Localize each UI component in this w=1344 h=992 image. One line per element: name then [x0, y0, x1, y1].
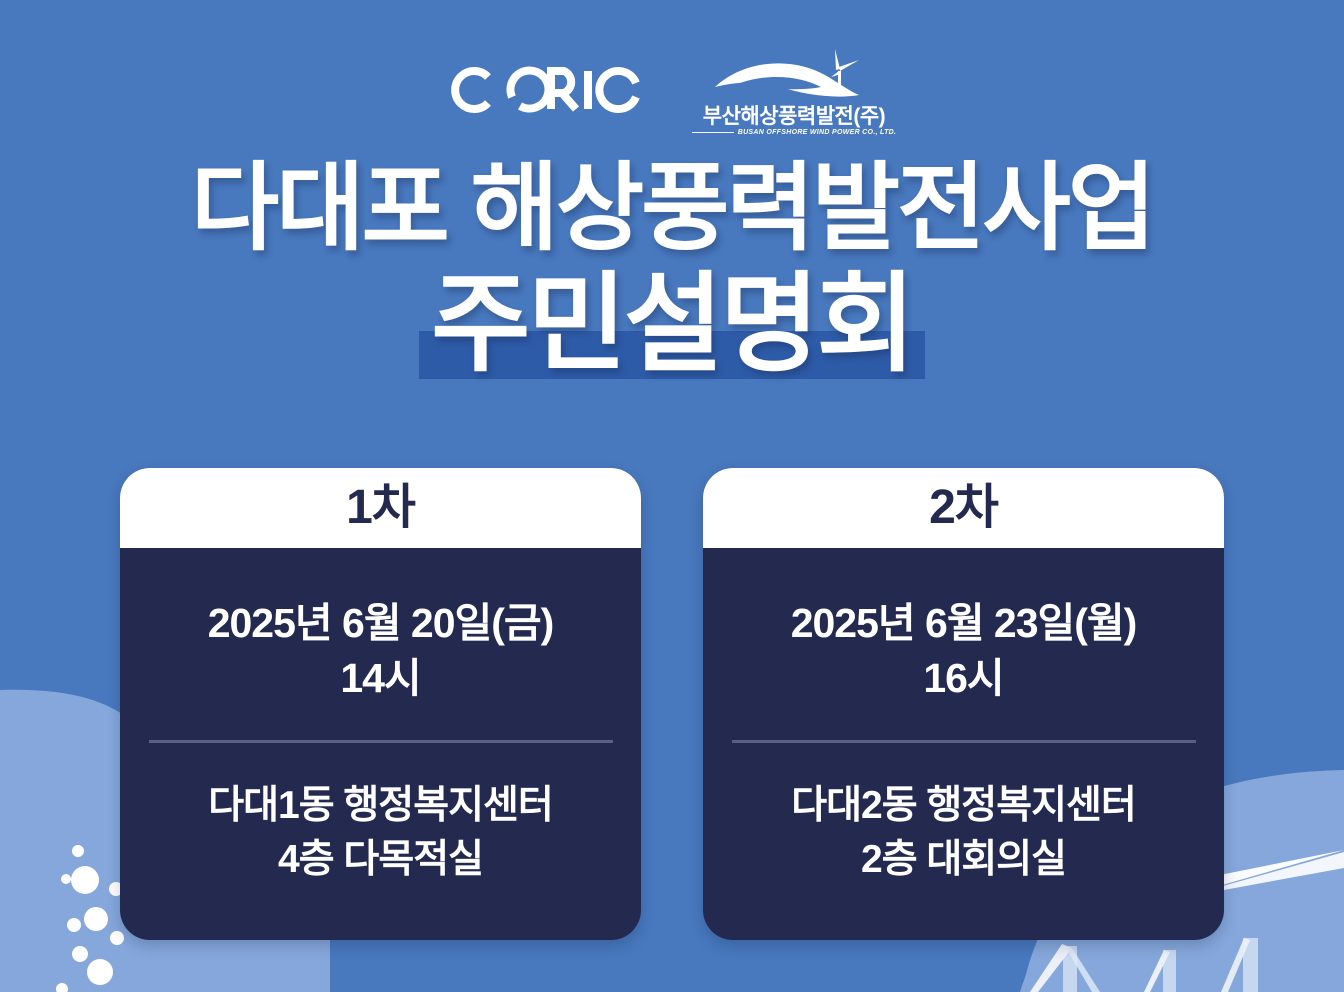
session-2-header: 2차	[703, 468, 1224, 548]
session-card-1: 1차 2025년 6월 20일(금) 14시 다대1동 행정복지센터 4층 다목…	[120, 468, 641, 940]
busan-logo-english-text: BUSAN OFFSHORE WIND POWER CO., LTD.	[738, 129, 897, 136]
session-card-2: 2차 2025년 6월 23일(월) 16시 다대2동 행정복지센터 2층 대회…	[703, 468, 1224, 940]
session-2-time: 16시	[923, 651, 1003, 706]
session-2-venue: 다대2동 행정복지센터	[791, 779, 1135, 833]
dot-cluster-decoration	[56, 845, 124, 992]
busan-offshore-wind-power-logo: 부산해상풍력발전(주) BUSAN OFFSHORE WIND POWER CO…	[692, 44, 897, 136]
session-1-time: 14시	[340, 651, 420, 706]
poster-subtitle: 주민설명회	[431, 263, 913, 384]
busan-logo-korean-text: 부산해상풍력발전(주)	[703, 106, 885, 127]
session-1-room: 4층 다목적실	[278, 833, 483, 887]
wind-turbine-group-icon	[1030, 938, 1258, 992]
session-2-date: 2025년 6월 23일(월)	[791, 596, 1137, 651]
session-2-room: 2층 대회의실	[861, 833, 1066, 887]
session-card-list: 1차 2025년 6월 20일(금) 14시 다대1동 행정복지센터 4층 다목…	[120, 468, 1224, 940]
session-2-divider	[732, 740, 1196, 743]
session-1-body: 2025년 6월 20일(금) 14시 다대1동 행정복지센터 4층 다목적실	[120, 548, 641, 940]
busan-logo-english-row: BUSAN OFFSHORE WIND POWER CO., LTD.	[692, 129, 897, 136]
logo-rule-left	[692, 132, 734, 133]
wave-turbine-mark-icon	[709, 47, 879, 105]
session-1-badge: 1차	[346, 484, 415, 532]
session-2-badge: 2차	[929, 484, 998, 532]
session-1-header: 1차	[120, 468, 641, 548]
corio-logo	[448, 63, 644, 117]
poster-title: 다대포 해상풍력발전사업	[0, 158, 1344, 260]
poster-subtitle-wrap: 주민설명회	[431, 264, 913, 385]
poster-canvas: 부산해상풍력발전(주) BUSAN OFFSHORE WIND POWER CO…	[0, 0, 1344, 992]
session-1-venue: 다대1동 행정복지센터	[208, 779, 552, 833]
logo-row: 부산해상풍력발전(주) BUSAN OFFSHORE WIND POWER CO…	[0, 40, 1344, 140]
session-1-divider	[149, 740, 613, 743]
headline-block: 다대포 해상풍력발전사업 주민설명회	[0, 158, 1344, 385]
session-2-body: 2025년 6월 23일(월) 16시 다대2동 행정복지센터 2층 대회의실	[703, 548, 1224, 940]
session-1-date: 2025년 6월 20일(금)	[208, 596, 554, 651]
